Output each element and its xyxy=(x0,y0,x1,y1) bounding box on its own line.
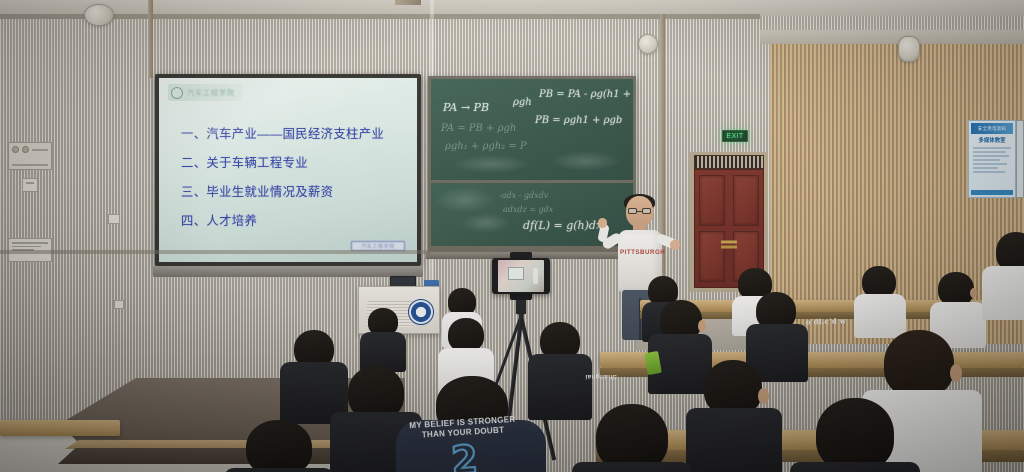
wall-trim-right xyxy=(760,30,1024,44)
wall-outlet[interactable] xyxy=(108,214,120,224)
poster-header: 安全用电须知 xyxy=(971,123,1013,134)
poster-line xyxy=(973,147,1011,149)
switch-line xyxy=(26,182,34,184)
glasses-lens-right xyxy=(642,208,651,214)
glasses-icon xyxy=(628,208,651,214)
bench-row-left-edge xyxy=(0,420,120,436)
door-handle[interactable] xyxy=(721,240,737,243)
control-knob-icon[interactable] xyxy=(22,146,29,153)
control-panel-row xyxy=(12,146,48,153)
poster-line xyxy=(973,171,1005,173)
phone-preview-presenter xyxy=(533,268,539,283)
poster-line xyxy=(973,151,1006,153)
wall-switch-plate[interactable] xyxy=(22,178,38,192)
recording-phone[interactable] xyxy=(492,258,550,294)
presenter-shirt-text: PITTSBURGH xyxy=(620,249,660,256)
student-body xyxy=(790,462,920,472)
lectern-emblem-icon xyxy=(408,299,434,325)
chalk-smudge-d xyxy=(461,213,511,233)
student-body xyxy=(982,266,1024,320)
chalk-lower-1: -adx - gdxdv xyxy=(499,191,548,200)
chalk-line-2: ρgh xyxy=(513,97,532,108)
ceiling-bracket xyxy=(395,0,421,5)
glasses-lens-left xyxy=(628,208,637,214)
student-body xyxy=(572,462,692,472)
student-head xyxy=(884,330,954,398)
chalk-line-3: PA = PB + ρgh xyxy=(441,123,516,134)
student-body xyxy=(224,468,334,472)
blackboard-upper-panel: PA → PB ρgh PA = PB + ρgh PB = PA - ρg(h… xyxy=(431,79,633,183)
wall-outlet-low[interactable] xyxy=(114,300,124,309)
student-ear xyxy=(698,320,706,332)
slide-line-4: 四、人才培养 xyxy=(181,211,407,229)
student-body xyxy=(686,408,782,472)
door-panel xyxy=(733,175,759,226)
lecture-hall-photo: 汽车工程学院 一、汽车产业——国民经济支柱产业 二、关于车辆工程专业 三、毕业生… xyxy=(0,0,1024,472)
student-body xyxy=(854,294,906,338)
student-hoodie-text: Shanghai xyxy=(572,372,630,380)
chalk-line-1: PA → PB xyxy=(443,101,489,114)
notice-line xyxy=(12,246,41,248)
chalk-smudge-a xyxy=(451,155,531,173)
wall-conduit-screen xyxy=(148,0,153,78)
control-panel-label-bar xyxy=(32,149,48,151)
chalk-line-5: PB = ρgh1 + ρgb xyxy=(535,115,622,126)
notice-line xyxy=(12,242,48,244)
wall-trim-upper xyxy=(0,14,760,19)
student-head xyxy=(938,272,974,306)
slide-logo-text: 汽车工程学院 xyxy=(187,88,235,98)
student-ear xyxy=(970,288,977,298)
door-half-left xyxy=(695,170,729,287)
poster-line xyxy=(973,163,1007,165)
phone-screen-preview xyxy=(498,260,544,292)
wall-control-panel[interactable] xyxy=(8,142,52,170)
chalk-lower-2: adxdz = gdx xyxy=(503,205,553,214)
tripod-head[interactable] xyxy=(516,298,526,314)
poster-line xyxy=(973,167,998,169)
poster-title: 多媒体教室 xyxy=(971,136,1013,144)
control-knob-icon[interactable] xyxy=(12,146,19,153)
student-ear xyxy=(758,388,769,404)
slide-line-3: 三、毕业生就业情况及薪资 xyxy=(181,182,407,200)
projection-screen: 汽车工程学院 一、汽车产业——国民经济支柱产业 二、关于车辆工程专业 三、毕业生… xyxy=(155,74,421,266)
phone-preview-screen-region xyxy=(508,267,524,280)
chalk-line-4: PB = PA - ρg(h1 + h2 + a) xyxy=(539,89,633,100)
chalk-smudge-b xyxy=(551,151,621,171)
wall-speaker-center xyxy=(638,34,658,54)
slide-line-2: 二、关于车辆工程专业 xyxy=(181,153,407,171)
slide-content: 一、汽车产业——国民经济支柱产业 二、关于车辆工程专业 三、毕业生就业情况及薪资… xyxy=(181,124,407,229)
student-head xyxy=(448,318,484,352)
student-shirt-belief-text: MY BELIEF IS STRONGER THAN YOUR DOUBT 2 xyxy=(402,414,526,472)
door-panel xyxy=(699,175,725,226)
presenter-hand-right xyxy=(670,240,680,250)
poster-line xyxy=(973,155,1009,157)
slide-line-1: 一、汽车产业——国民经济支柱产业 xyxy=(181,124,407,142)
exit-sign-label: EXIT xyxy=(726,133,743,140)
safety-poster: 安全用电须知 多媒体教室 xyxy=(968,120,1016,198)
university-crest-icon xyxy=(171,87,183,99)
poster-secondary xyxy=(1016,120,1024,198)
student-ear xyxy=(950,364,962,382)
student-body-hoodie xyxy=(528,354,592,420)
student-head xyxy=(246,420,312,472)
exit-sign: EXIT xyxy=(722,130,748,142)
wall-speaker-right xyxy=(898,36,920,62)
chalk-smudge-c xyxy=(435,187,495,213)
slide-logo: 汽车工程学院 xyxy=(168,84,242,101)
poster-line xyxy=(973,159,1000,161)
door-panel xyxy=(699,231,725,282)
poster-footer-band xyxy=(971,190,1013,195)
student-head xyxy=(816,398,894,472)
control-panel-row xyxy=(12,164,48,166)
control-panel-label-bar xyxy=(12,164,48,166)
ceiling-speaker-left xyxy=(84,4,114,26)
chalk-lower-3: df(L) = g(h)dx xyxy=(523,219,602,232)
poster-body xyxy=(971,146,1013,188)
presenter-hand-left xyxy=(598,218,607,228)
wall-baseboard-line xyxy=(0,250,430,254)
projection-screen-surface: 汽车工程学院 一、汽车产业——国民经济支柱产业 二、关于车辆工程专业 三、毕业生… xyxy=(159,78,417,262)
projection-screen-bottom-bar xyxy=(153,266,423,277)
tee-belief-number: 2 xyxy=(404,437,526,472)
door-transom-grille xyxy=(694,155,764,169)
